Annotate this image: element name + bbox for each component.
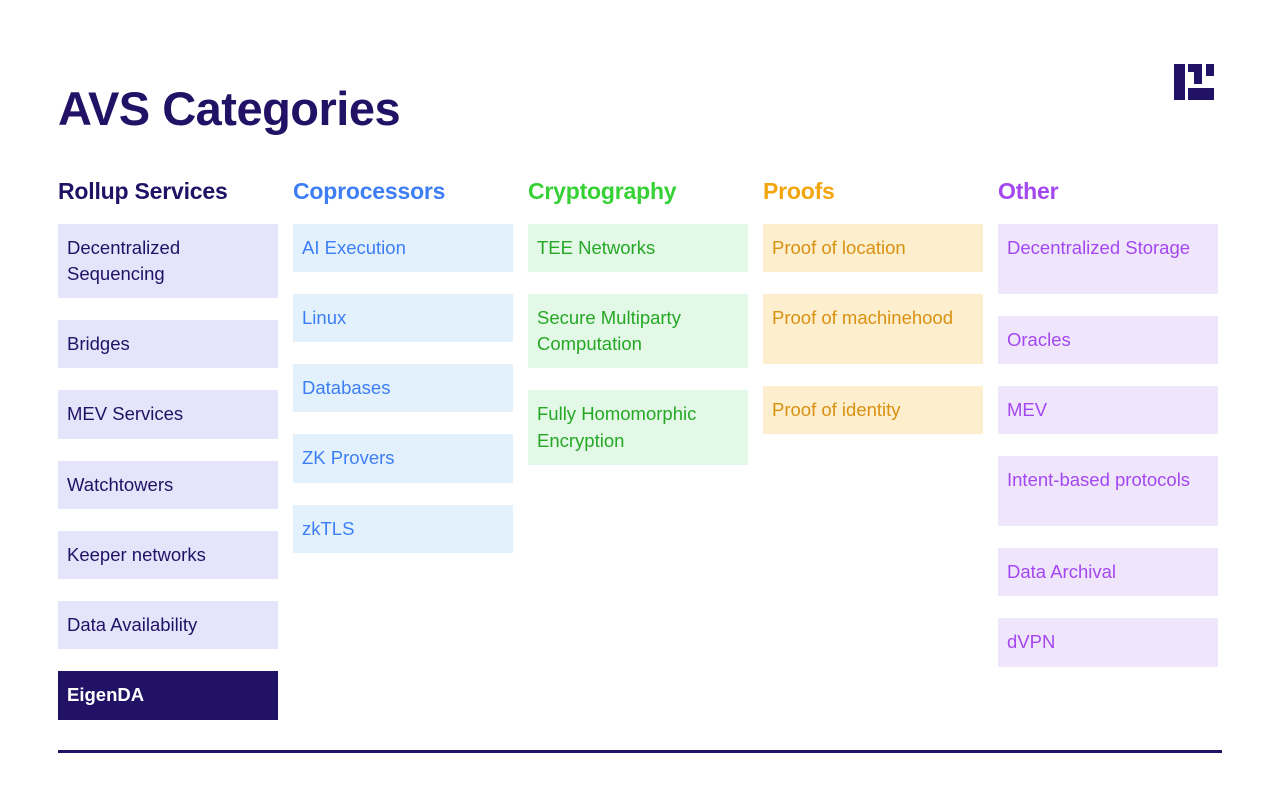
category-card[interactable]: ZK Provers: [293, 434, 513, 482]
category-columns: Rollup ServicesDecentralized SequencingB…: [58, 178, 1222, 742]
category-card[interactable]: Secure Multiparty Computation: [528, 294, 748, 369]
category-card[interactable]: Proof of identity: [763, 386, 983, 434]
column-header: Coprocessors: [293, 178, 513, 206]
category-card[interactable]: Proof of location: [763, 224, 983, 272]
column-header: Cryptography: [528, 178, 748, 206]
column-header: Proofs: [763, 178, 983, 206]
category-column: CryptographyTEE NetworksSecure Multipart…: [528, 178, 748, 487]
category-card[interactable]: Decentralized Sequencing: [58, 224, 278, 299]
category-column: Rollup ServicesDecentralized SequencingB…: [58, 178, 278, 742]
column-header: Rollup Services: [58, 178, 278, 206]
category-card[interactable]: Databases: [293, 364, 513, 412]
category-card[interactable]: Bridges: [58, 320, 278, 368]
column-header: Other: [998, 178, 1218, 206]
category-card[interactable]: Fully Homomorphic Encryption: [528, 390, 748, 465]
category-card[interactable]: Watchtowers: [58, 461, 278, 509]
page-title: AVS Categories: [58, 83, 400, 135]
category-card[interactable]: Oracles: [998, 316, 1218, 364]
category-card[interactable]: Keeper networks: [58, 531, 278, 579]
category-card[interactable]: Intent-based protocols: [998, 456, 1218, 526]
category-card[interactable]: TEE Networks: [528, 224, 748, 272]
eigenlayer-logo-icon: [1174, 58, 1222, 106]
slide-root: AVS Categories Rollup ServicesDecentrali…: [0, 0, 1280, 800]
category-card[interactable]: MEV: [998, 386, 1218, 434]
category-card[interactable]: Decentralized Storage: [998, 224, 1218, 294]
category-card[interactable]: Proof of machinehood: [763, 294, 983, 364]
bottom-divider: [58, 750, 1222, 753]
category-card[interactable]: Data Availability: [58, 601, 278, 649]
category-column: OtherDecentralized StorageOraclesMEVInte…: [998, 178, 1218, 689]
category-card[interactable]: zkTLS: [293, 505, 513, 553]
category-card[interactable]: AI Execution: [293, 224, 513, 272]
category-card-highlighted[interactable]: EigenDA: [58, 671, 278, 719]
category-card[interactable]: Data Archival: [998, 548, 1218, 596]
category-column: ProofsProof of locationProof of machineh…: [763, 178, 983, 456]
category-card[interactable]: Linux: [293, 294, 513, 342]
category-card[interactable]: MEV Services: [58, 390, 278, 438]
category-column: CoprocessorsAI ExecutionLinuxDatabasesZK…: [293, 178, 513, 575]
category-card[interactable]: dVPN: [998, 618, 1218, 666]
